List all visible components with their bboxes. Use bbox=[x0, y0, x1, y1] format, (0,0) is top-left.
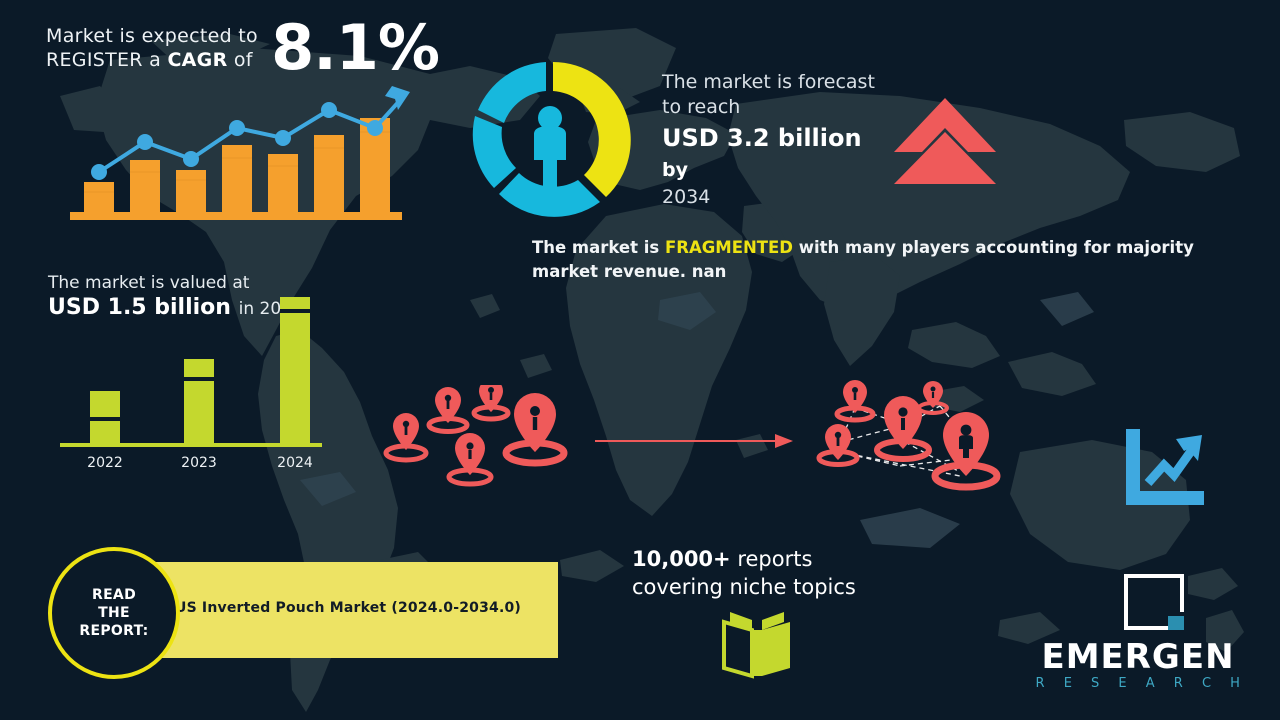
cagr-header: Market is expected to REGISTER a CAGR of… bbox=[46, 18, 466, 78]
read-the-report-button[interactable]: READ THE REPORT: bbox=[48, 547, 180, 679]
donut-slice-yellow bbox=[553, 62, 631, 197]
market-value-lead: The market is valued at bbox=[48, 272, 348, 294]
donut-center-person-icon bbox=[534, 106, 566, 188]
brand-logo: EMERGEN R E S E A R C H bbox=[1028, 572, 1248, 691]
report-cta-banner[interactable]: US Inverted Pouch Market (2024.0-2034.0) bbox=[150, 562, 558, 658]
infographic-canvas: Market is expected to REGISTER a CAGR of… bbox=[0, 0, 1280, 720]
cagr-caption-bold: CAGR bbox=[167, 49, 227, 71]
cagr-caption-line2-post: of bbox=[228, 49, 253, 71]
upward-triangles-icon bbox=[890, 92, 1000, 187]
scattered-location-pins bbox=[380, 385, 590, 495]
cta-label-line3: REPORT: bbox=[79, 623, 148, 639]
market-value-axis bbox=[60, 443, 322, 447]
cta-label-line1: READ bbox=[92, 587, 136, 603]
fragmentation-statement: The market is FRAGMENTED with many playe… bbox=[532, 236, 1212, 284]
report-title: US Inverted Pouch Market (2024.0-2034.0) bbox=[175, 600, 521, 616]
cta-label-line2: THE bbox=[98, 605, 130, 621]
donut-slice-cyan-1 bbox=[478, 62, 546, 123]
connected-location-pins bbox=[800, 380, 1020, 505]
donut-slice-cyan-2 bbox=[473, 116, 516, 188]
logo-mark-icon bbox=[1122, 572, 1186, 634]
fragmentation-pre: The market is bbox=[532, 238, 665, 257]
forecast-lead: The market is forecast to reach bbox=[662, 70, 892, 120]
forecast-value: USD 3.2 billion by bbox=[662, 123, 892, 185]
open-book-icon bbox=[718, 608, 796, 680]
logo-wordmark: EMERGEN bbox=[1028, 638, 1248, 676]
forecast-year: 2034 bbox=[662, 185, 892, 209]
market-value-bars bbox=[90, 297, 310, 443]
growth-chart-icon bbox=[1118, 425, 1208, 510]
cagr-value: 8.1% bbox=[271, 18, 439, 78]
reports-topics-line: covering niche topics bbox=[632, 573, 932, 601]
logo-subtitle: R E S E A R C H bbox=[1028, 676, 1248, 691]
reports-count-block: 10,000+ reports covering niche topics bbox=[632, 545, 932, 601]
forecast-value-amount: USD 3.2 billion bbox=[662, 124, 862, 152]
reports-count-unit: reports bbox=[731, 547, 813, 571]
cagr-caption-line1: Market is expected to bbox=[46, 25, 258, 47]
growth-trend-baseline bbox=[70, 212, 402, 220]
reports-count-line: 10,000+ reports bbox=[632, 545, 932, 573]
market-value-by-year-chart: 2022 2023 2024 bbox=[60, 295, 330, 475]
reports-count-value: 10,000+ bbox=[632, 547, 731, 571]
fragmentation-highlight: FRAGMENTED bbox=[665, 238, 793, 257]
growth-trend-arrowhead bbox=[385, 86, 410, 110]
cagr-caption-line2-pre: REGISTER a bbox=[46, 49, 167, 71]
forecast-block: The market is forecast to reach USD 3.2 … bbox=[662, 70, 892, 209]
growth-trend-chart bbox=[62, 80, 412, 225]
market-share-donut bbox=[460, 52, 640, 227]
flow-arrow bbox=[595, 430, 795, 452]
cagr-caption: Market is expected to REGISTER a CAGR of bbox=[46, 18, 258, 72]
market-value-xtick-2022: 2022 bbox=[87, 455, 123, 471]
market-value-xtick-2024: 2024 bbox=[277, 455, 313, 471]
forecast-value-suffix: by bbox=[662, 159, 688, 181]
market-value-xtick-2023: 2023 bbox=[181, 455, 217, 471]
read-the-report-label: READ THE REPORT: bbox=[79, 586, 148, 640]
